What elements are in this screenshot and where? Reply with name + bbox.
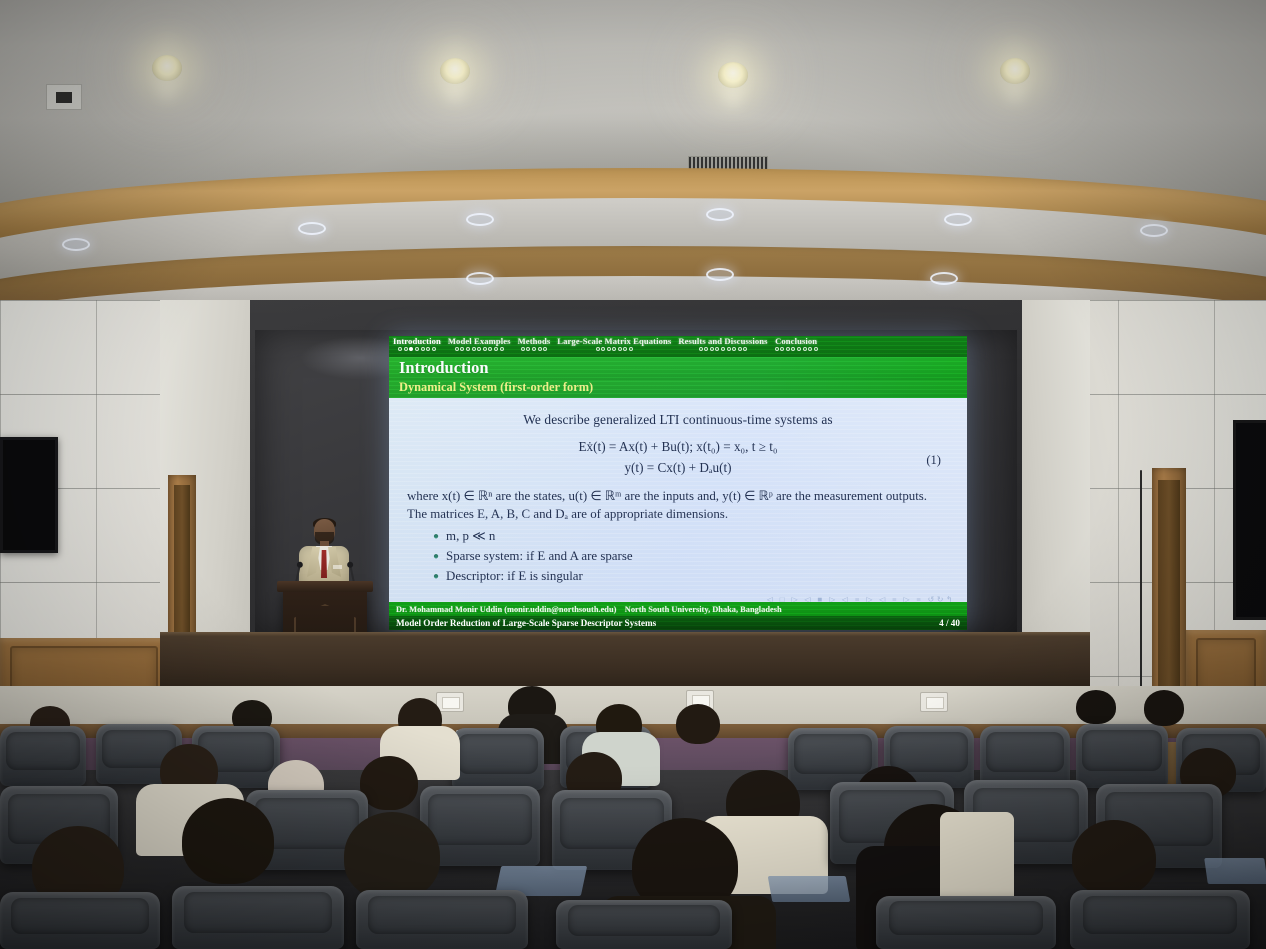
presenter-pocket-square [333,565,342,569]
ceiling-downlight-icon [718,62,748,88]
equation-line-2: y(t) = Cx(t) + Dₐu(t) [407,458,949,478]
slide-page-indicator: 4 / 40 [939,618,960,628]
recessed-oval-light-icon [930,272,958,285]
bullet-marker-icon: ● [433,572,439,582]
audience-seat [876,896,1056,949]
recessed-oval-light-icon [466,213,494,226]
ceiling-downlight-icon [152,55,182,81]
nav-dots-methods [518,347,551,351]
nav-dots-introduction [393,347,441,351]
audience-seat [1070,890,1250,949]
equation-block: Eẋ(t) = Ax(t) + Bu(t); x(t₀) = x₀, t ≥ … [407,437,949,478]
audience-seat [0,892,160,949]
slide-bullet-list: ● m, p ≪ n ● Sparse system: if E and A a… [407,528,949,584]
footer-author-affiliation: Dr. Mohammad Monir Uddin (monir.uddin@no… [389,605,782,614]
list-item: ● Descriptor: if E is singular [433,568,949,585]
podium-top [277,581,373,592]
ceiling-downlight-icon [1000,58,1030,84]
presenter-tie [321,550,327,578]
nav-section-introduction[interactable]: Introduction [393,337,441,351]
nav-section-label: Methods [518,337,551,346]
slide-footer-author-bar: Dr. Mohammad Monir Uddin (monir.uddin@no… [389,602,967,616]
nav-dots-model-examples [448,347,511,351]
audience-person [676,704,720,744]
nav-section-label: Results and Discussions [678,337,767,346]
recessed-oval-light-icon [706,268,734,281]
nav-section-label: Model Examples [448,337,511,346]
nav-section-label: Large-Scale Matrix Equations [557,337,671,346]
slide-footer-title-bar: Model Order Reduction of Large-Scale Spa… [389,616,967,630]
equation-line-1: Eẋ(t) = Ax(t) + Bu(t); x(t₀) = x₀, t ≥ … [407,437,949,457]
audience-person [1076,690,1116,724]
desk-tablet-panel [768,876,851,902]
audience-seat [172,886,344,949]
bullet-marker-icon: ● [433,532,439,542]
projected-slide: Introduction Model Examples Methods Larg… [389,336,967,630]
recessed-oval-light-icon [466,272,494,285]
nav-section-methods[interactable]: Methods [518,337,551,351]
recessed-oval-light-icon [706,208,734,221]
slide-subtitle: Dynamical System (first-order form) [399,381,957,395]
slide-body: We describe generalized LTI continuous-t… [389,398,967,584]
audience-person [344,812,440,900]
audience-seat [0,726,86,786]
list-item: ● m, p ≪ n [433,528,949,545]
slide-subtitle-bar: Dynamical System (first-order form) [389,380,967,398]
nav-section-results-and-discussions[interactable]: Results and Discussions [678,337,767,351]
audience-seat [356,890,528,949]
recessed-oval-light-icon [62,238,90,251]
audience-person [1144,690,1184,726]
beamer-navigation-bar: Introduction Model Examples Methods Larg… [389,336,967,357]
list-item-label: Sparse system: if E and A are sparse [446,548,633,565]
wall-outlet-icon[interactable] [920,692,948,712]
list-item: ● Sparse system: if E and A are sparse [433,548,949,565]
footer-author: Dr. Mohammad Monir Uddin (monir.uddin@no… [396,605,616,614]
footer-presentation-title: Model Order Reduction of Large-Scale Spa… [396,618,656,628]
audience-seat [1076,724,1168,788]
audience-seat [452,728,544,790]
nav-dots-large-scale [557,347,671,351]
wall-monitor-right [1233,420,1266,620]
nav-section-label: Conclusion [775,337,818,346]
nav-section-large-scale-matrix-equations[interactable]: Large-Scale Matrix Equations [557,337,671,351]
nav-dots-results [678,347,767,351]
audience-person [360,756,418,810]
wall-monitor-left [0,437,58,553]
slide-title: Introduction [399,359,957,377]
audience-seat [980,726,1070,788]
nav-section-conclusion[interactable]: Conclusion [775,337,818,351]
recessed-oval-light-icon [944,213,972,226]
audience-seat [556,900,732,949]
bullet-marker-icon: ● [433,552,439,562]
stage-floor [160,636,1090,688]
nav-section-label: Introduction [393,337,441,346]
lecture-hall-photo: Introduction Model Examples Methods Larg… [0,0,1266,949]
slide-paragraph: where x(t) ∈ ℝⁿ are the states, u(t) ∈ ℝ… [407,488,949,523]
slide-lead-text: We describe generalized LTI continuous-t… [407,412,949,428]
footer-affiliation: North South University, Dhaka, Banglades… [625,605,782,614]
audience-person [182,798,274,884]
nav-section-model-examples[interactable]: Model Examples [448,337,511,351]
audience-person [1072,820,1156,896]
recessed-oval-light-icon [298,222,326,235]
wall-outlet-icon[interactable] [436,692,464,712]
recessed-oval-light-icon [1140,224,1168,237]
list-item-label: m, p ≪ n [446,528,495,545]
desk-tablet-panel [1204,858,1266,884]
ceiling-downlight-icon [440,58,470,84]
slide-title-bar: Introduction [389,357,967,380]
ceiling-vent-icon [46,84,82,110]
equation-number: (1) [926,453,941,468]
list-item-label: Descriptor: if E is singular [446,568,583,585]
nav-dots-conclusion [775,347,818,351]
